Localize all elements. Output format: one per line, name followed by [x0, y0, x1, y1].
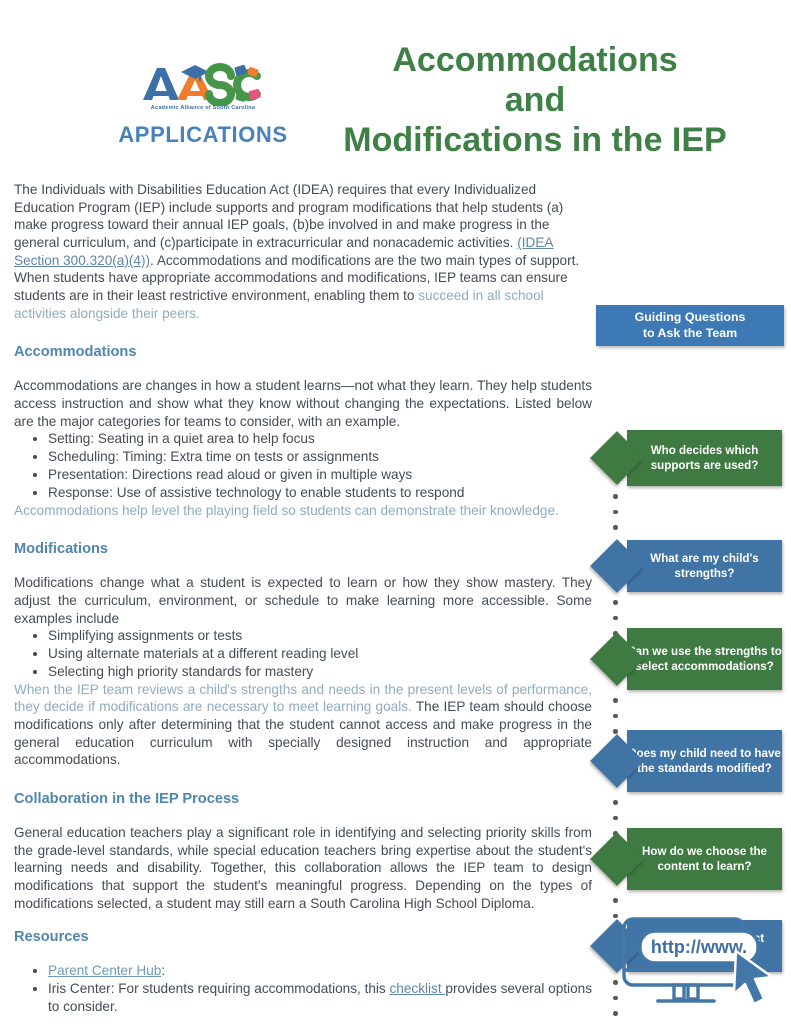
guiding-question-label: What are my child's strengths? [627, 551, 782, 582]
resource-1-suffix: : [161, 963, 165, 978]
list-item: Response: Use of assistive technology to… [48, 484, 592, 502]
list-item: Scheduling: Timing: Extra time on tests … [48, 448, 592, 466]
main-content: The Individuals with Disabilities Educat… [14, 181, 592, 1016]
connector-dot [613, 494, 618, 499]
document-header: Academic Alliance of South Carolina APPL… [0, 0, 791, 175]
checklist-link[interactable]: checklist [390, 981, 446, 996]
guiding-question-label: How do we choose the content to learn? [627, 844, 782, 875]
connector-dot [613, 898, 618, 903]
connector-dot [613, 600, 618, 605]
guiding-question-4[interactable]: Does my child need to have the standards… [627, 730, 782, 792]
list-item: Iris Center: For students requiring acco… [48, 980, 592, 1016]
guiding-question-label: Can we use the strengths to select accom… [627, 644, 782, 675]
connector-dot [613, 1011, 618, 1016]
connector-dot [613, 816, 618, 821]
title-line-1: Accommodations [300, 40, 770, 80]
applications-label: APPLICATIONS [78, 122, 328, 148]
section-heading-accommodations: Accommodations [14, 344, 592, 360]
intro-part-1: The Individuals with Disabilities Educat… [14, 182, 563, 250]
section-heading-collaboration: Collaboration in the IEP Process [14, 791, 592, 807]
title-line-3: Modifications in the IEP [300, 120, 770, 160]
list-item: Simplifying assignments or tests [48, 627, 592, 645]
banner-line-1: Guiding Questions [635, 310, 746, 326]
guiding-question-1[interactable]: Who decides which supports are used? [627, 430, 782, 486]
resource-2-prefix: Iris Center: For students requiring acco… [48, 981, 390, 996]
modifications-closing-paragraph: When the IEP team reviews a child's stre… [14, 681, 592, 769]
guiding-questions-banner: Guiding Questions to Ask the Team [596, 305, 784, 346]
connector-dot [613, 698, 618, 703]
title-line-2: and [300, 80, 770, 120]
resources-list: Parent Center Hub: Iris Center: For stud… [14, 962, 592, 1015]
guiding-question-5[interactable]: How do we choose the content to learn? [627, 828, 782, 890]
collaboration-paragraph: General education teachers play a signif… [14, 824, 592, 912]
list-item: Selecting high priority standards for ma… [48, 663, 592, 681]
parent-center-hub-link[interactable]: Parent Center Hub [48, 963, 161, 978]
document-page: Academic Alliance of South Carolina APPL… [0, 0, 791, 1024]
connector-dot [613, 525, 618, 530]
modifications-bullet-list: Simplifying assignments or tests Using a… [14, 627, 592, 680]
list-item: Using alternate materials at a different… [48, 645, 592, 663]
guiding-question-label: Does my child need to have the standards… [627, 746, 782, 777]
guiding-questions-list: Who decides which supports are used?What… [596, 378, 786, 938]
section-heading-modifications: Modifications [14, 541, 592, 557]
website-monitor-icon: http://www. [612, 915, 784, 1011]
connector-dot [613, 729, 618, 734]
section-heading-resources: Resources [14, 929, 592, 945]
guiding-question-3[interactable]: Can we use the strengths to select accom… [627, 628, 782, 690]
banner-line-2: to Ask the Team [635, 326, 746, 342]
page-title: Accommodations and Modifications in the … [300, 40, 770, 160]
logo-subtitle: Academic Alliance of South Carolina [139, 105, 267, 111]
connector-dot [613, 800, 618, 805]
modifications-paragraph: Modifications change what a student is e… [14, 574, 592, 627]
connector-dot [613, 714, 618, 719]
dotted-connector [613, 494, 619, 541]
brand-block: Academic Alliance of South Carolina APPL… [78, 60, 328, 148]
connector-dot [613, 616, 618, 621]
guiding-question-2[interactable]: What are my child's strengths? [627, 540, 782, 592]
accommodations-bullet-list: Setting: Seating in a quiet area to help… [14, 430, 592, 501]
accommodations-closing-highlight: Accommodations help level the playing fi… [14, 502, 592, 520]
guiding-question-label: Who decides which supports are used? [627, 443, 782, 474]
accommodations-paragraph: Accommodations are changes in how a stud… [14, 377, 592, 430]
list-item: Setting: Seating in a quiet area to help… [48, 430, 592, 448]
list-item: Presentation: Directions read aloud or g… [48, 466, 592, 484]
intro-paragraph: The Individuals with Disabilities Educat… [14, 181, 592, 322]
list-item: Parent Center Hub: [48, 962, 592, 980]
aasc-logo-icon: Academic Alliance of South Carolina [139, 60, 267, 108]
guiding-questions-sidebar: Guiding Questions to Ask the Team Who de… [596, 305, 786, 938]
connector-dot [613, 510, 618, 515]
svg-text:http://www.: http://www. [651, 937, 747, 957]
